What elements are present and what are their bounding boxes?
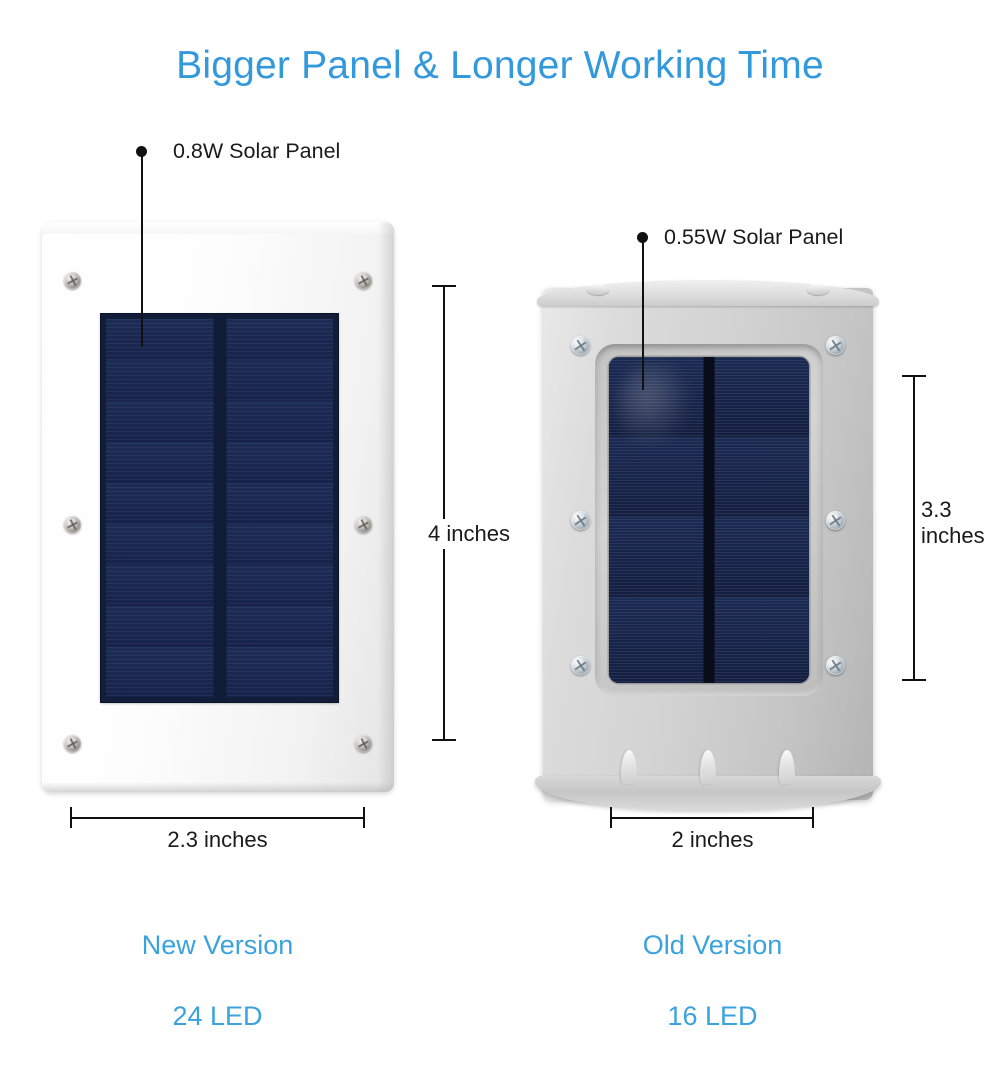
new-version-product-image: [42, 222, 394, 792]
screw-icon: [826, 656, 845, 675]
new-width-dimension-label: 2.3 inches: [0, 827, 435, 853]
new-callout-leader-line: [141, 152, 143, 347]
old-version-product-image: [543, 288, 873, 800]
screw-icon: [826, 511, 845, 530]
dimension-end-cap: [902, 679, 926, 681]
old-width-dimension-line: [610, 817, 814, 819]
screw-icon: [571, 336, 590, 355]
panel-column-left: [106, 319, 216, 697]
old-height-dimension-label: 3.3 inches: [921, 497, 995, 548]
panel-glare: [617, 364, 693, 449]
dimension-end-cap: [610, 807, 612, 828]
screw-icon: [355, 735, 372, 752]
cell-texture: [224, 319, 334, 697]
new-height-dimension-line: [443, 285, 445, 740]
cell-texture: [714, 357, 809, 683]
screw-icon: [826, 336, 845, 355]
panel-center-gap: [213, 314, 226, 702]
old-housing-tab: [807, 284, 829, 295]
screw-icon: [64, 735, 81, 752]
new-version-caption-line1: New Version: [0, 928, 435, 964]
screw-icon: [355, 272, 372, 289]
old-version-caption: Old Version 16 LED: [565, 892, 860, 1070]
screw-icon: [571, 656, 590, 675]
old-callout-leader-line: [642, 238, 644, 390]
new-version-caption-line2: 24 LED: [0, 999, 435, 1035]
dimension-end-cap: [432, 739, 456, 741]
old-version-caption-line1: Old Version: [565, 928, 860, 964]
dimension-end-cap: [70, 807, 72, 828]
old-solar-panel: [609, 357, 809, 683]
dimension-end-cap: [812, 807, 814, 828]
dimension-end-cap: [902, 375, 926, 377]
old-housing-top-lip: [537, 280, 879, 306]
old-width-dimension-label: 2 inches: [565, 827, 860, 853]
old-height-unit: inches: [921, 523, 995, 549]
page-title: Bigger Panel & Longer Working Time: [0, 44, 1000, 88]
cell-texture: [106, 319, 216, 697]
new-version-caption: New Version 24 LED: [0, 892, 435, 1070]
new-width-dimension-line: [70, 817, 365, 819]
new-housing-bottom-bevel: [42, 782, 394, 792]
infographic-canvas: Bigger Panel & Longer Working Time: [0, 0, 1000, 1000]
screw-icon: [355, 516, 372, 533]
old-panel-callout-label: 0.55W Solar Panel: [664, 225, 843, 250]
old-height-value: 3.3: [921, 497, 995, 523]
new-height-dimension-label: 4 inches: [425, 519, 513, 549]
screw-icon: [64, 272, 81, 289]
new-housing-right-bevel: [378, 222, 394, 792]
dimension-end-cap: [432, 285, 456, 287]
panel-column-right: [224, 319, 334, 697]
old-panel-bezel: [595, 344, 823, 696]
screw-icon: [571, 511, 590, 530]
new-housing-top-bevel: [42, 222, 394, 234]
new-solar-panel: [101, 314, 338, 702]
panel-column-right: [714, 357, 809, 683]
old-height-dimension-line: [913, 375, 915, 680]
old-housing-tab: [587, 284, 609, 295]
dimension-end-cap: [363, 807, 365, 828]
screw-icon: [64, 516, 81, 533]
new-panel-callout-label: 0.8W Solar Panel: [173, 139, 340, 164]
old-version-caption-line2: 16 LED: [565, 999, 860, 1035]
panel-busbar: [704, 357, 715, 683]
